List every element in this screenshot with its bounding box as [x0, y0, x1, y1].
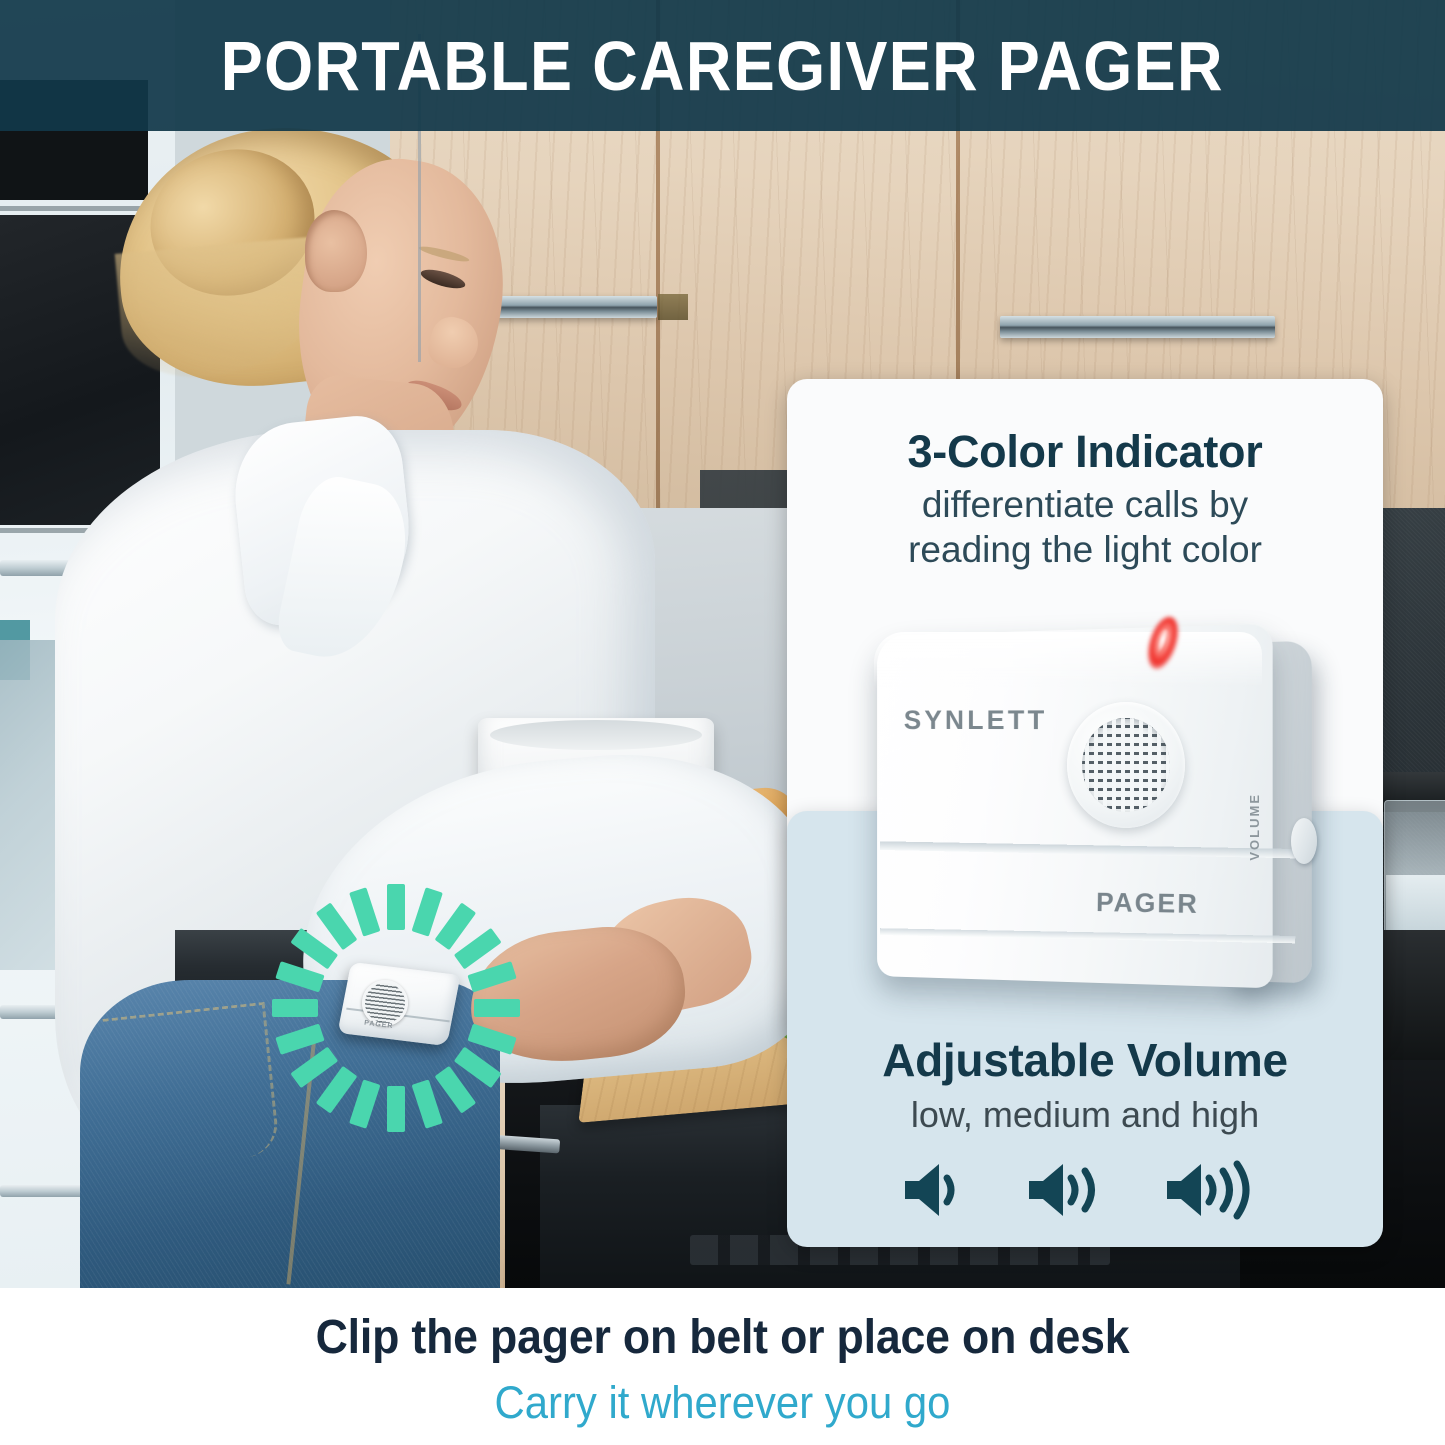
speaker-low-icon [901, 1159, 979, 1221]
feature-card-title: 3-Color Indicator [787, 426, 1383, 478]
device-top-highlight [874, 632, 1262, 688]
feature-card-subtitle-line2: reading the light color [787, 527, 1383, 572]
speaker-medium-icon [1025, 1159, 1117, 1221]
footer-headline: Clip the pager on belt or place on desk [51, 1310, 1395, 1365]
oven-line-1 [0, 206, 160, 211]
coffee-maker-base [1380, 930, 1445, 1060]
speaker-high-icon [1163, 1159, 1269, 1221]
volume-button[interactable] [1291, 818, 1317, 864]
alert-ray [387, 884, 405, 930]
volume-panel-title: Adjustable Volume [787, 1033, 1383, 1087]
device-brand-label: SYNLETT [904, 705, 1048, 736]
kitchen-photo: PAGER 3-Color Indicator differentiate ca… [0, 0, 1445, 1288]
alert-ray [387, 1086, 405, 1132]
device-volume-label: VOLUME [1247, 793, 1262, 861]
speaker-grille-icon [1082, 718, 1170, 812]
alert-ray [474, 999, 520, 1017]
jeans-pocket [102, 1002, 280, 1171]
ear [305, 210, 367, 292]
cabinet-pull-endcap [658, 294, 688, 320]
footer-caption: Clip the pager on belt or place on desk … [0, 1288, 1445, 1445]
header-banner: PORTABLE CAREGIVER PAGER [0, 0, 1445, 131]
feature-card-subtitle-line1: differentiate calls by [787, 482, 1383, 527]
page-title: PORTABLE CAREGIVER PAGER [221, 31, 1224, 101]
volume-icon-row [787, 1159, 1383, 1221]
product-infographic: PAGER 3-Color Indicator differentiate ca… [0, 0, 1445, 1445]
carafe-water-line [1386, 875, 1445, 937]
cabinet-pull-2 [1000, 316, 1275, 338]
bowl-rim [490, 720, 702, 750]
footer-subline: Carry it wherever you go [51, 1377, 1395, 1429]
device-pager-label: PAGER [1096, 887, 1199, 920]
feature-card-subtitle: differentiate calls by reading the light… [787, 482, 1383, 572]
alert-ray [272, 999, 318, 1017]
volume-panel-subtitle: low, medium and high [787, 1094, 1383, 1136]
